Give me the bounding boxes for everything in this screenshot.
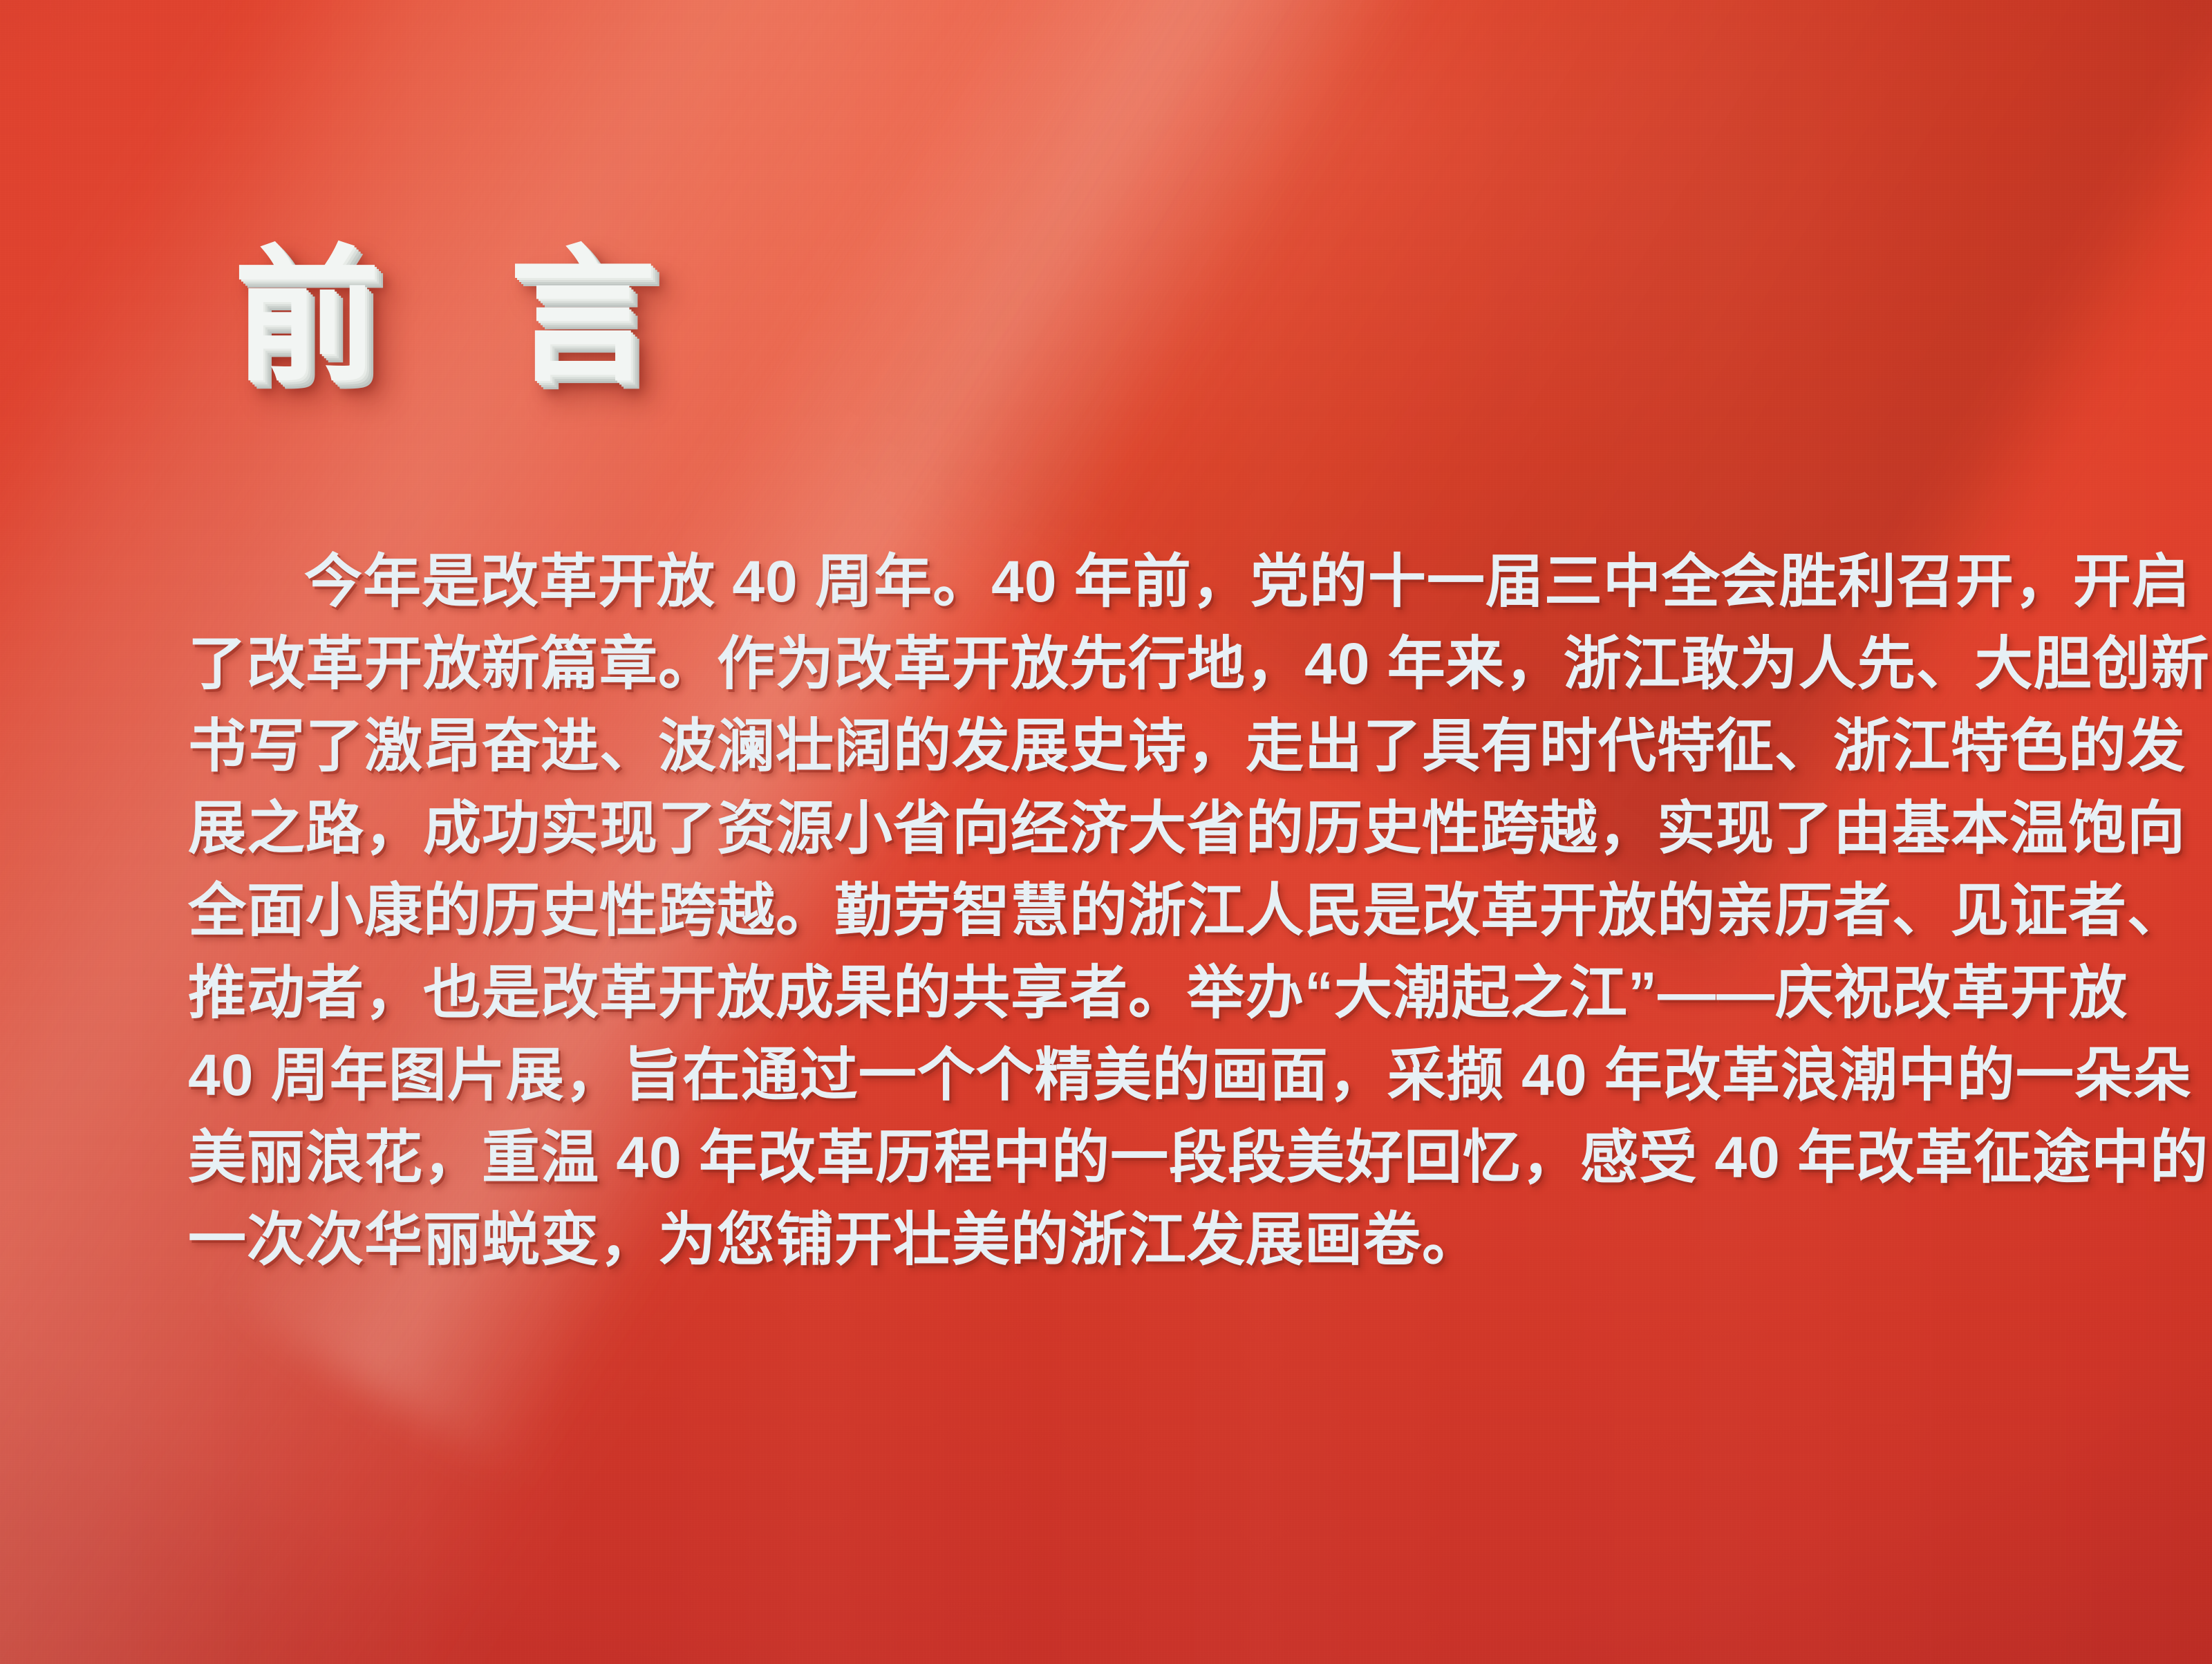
body-line: 书写了激昂奋进、波澜壮阔的发展史诗，走出了具有时代特征、浙江特色的发 [188,705,2027,787]
exhibit-preface-wall: 前 言 今年是改革开放 40 周年。40 年前，党的十一届三中全会胜利召开，开启… [0,0,2212,1664]
body-line: 全面小康的历史性跨越。勤劳智慧的浙江人民是改革开放的亲历者、见证者、 [188,870,2027,952]
body-line: 展之路，成功实现了资源小省向经济大省的历史性跨越，实现了由基本温饱向 [188,787,2027,870]
body-line: 一次次华丽蜕变，为您铺开壮美的浙江发展画卷。 [188,1199,2027,1281]
body-line: 40 周年图片展，旨在通过一个个精美的画面，采撷 40 年改革浪潮中的一朵朵 [188,1034,2027,1116]
body-line: 今年是改革开放 40 周年。40 年前，党的十一届三中全会胜利召开，开启 [188,541,2027,623]
body-line: 了改革开放新篇章。作为改革开放先行地，40 年来，浙江敢为人先、大胆创新， [188,623,2027,705]
page-title: 前 言 [234,243,700,390]
body-line: 推动者，也是改革开放成果的共享者。举办“大潮起之江”——庆祝改革开放 [188,952,2027,1034]
body-line: 美丽浪花，重温 40 年改革历程中的一段段美好回忆，感受 40 年改革征途中的 [188,1116,2027,1199]
preface-body-text: 今年是改革开放 40 周年。40 年前，党的十一届三中全会胜利召开，开启 了改革… [188,541,2027,1281]
